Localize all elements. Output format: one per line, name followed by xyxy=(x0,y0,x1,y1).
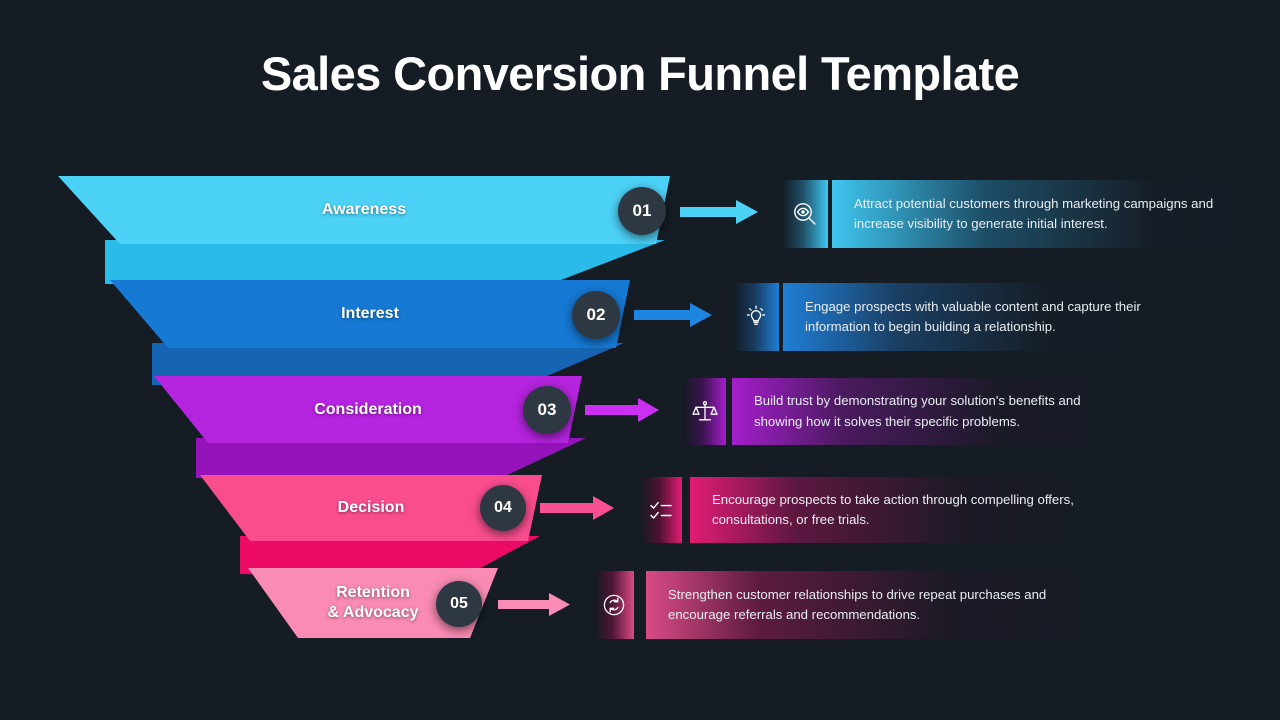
funnel-arrow-3 xyxy=(585,398,659,422)
funnel-stage-number-badge[interactable]: 03 xyxy=(523,386,571,434)
funnel-slice-shape xyxy=(110,280,630,348)
funnel-description-text: Encourage prospects to take action throu… xyxy=(690,490,1098,530)
funnel-icon-tile-3 xyxy=(684,378,726,445)
page-title: Sales Conversion Funnel Template xyxy=(0,46,1280,101)
lightbulb-icon xyxy=(743,304,769,330)
funnel-slice-consideration[interactable]: Consideration xyxy=(154,376,582,443)
funnel-stage-number-badge[interactable]: 04 xyxy=(480,485,526,531)
funnel-stage-number-badge[interactable]: 05 xyxy=(436,581,482,627)
funnel-stage-number: 02 xyxy=(587,305,606,325)
funnel-arrow-1 xyxy=(680,200,758,224)
funnel-description-text: Build trust by demonstrating your soluti… xyxy=(732,391,1130,431)
funnel-slice-interest[interactable]: Interest xyxy=(110,280,630,348)
funnel-description-panel-5: Strengthen customer relationships to dri… xyxy=(646,571,1112,639)
funnel-description-text: Strengthen customer relationships to dri… xyxy=(646,585,1112,625)
funnel-description-panel-4: Encourage prospects to take action throu… xyxy=(690,477,1098,543)
funnel-arrow-5 xyxy=(498,593,570,616)
funnel-icon-tile-2 xyxy=(733,283,779,351)
funnel-icon-tile-5 xyxy=(594,571,634,639)
eye-magnifier-icon xyxy=(792,201,818,227)
checklist-icon xyxy=(648,497,674,523)
funnel-icon-tile-1 xyxy=(782,180,828,248)
funnel-slice-shape xyxy=(58,176,670,244)
funnel-arrow-2 xyxy=(634,303,712,327)
funnel-description-panel-3: Build trust by demonstrating your soluti… xyxy=(732,378,1130,445)
funnel-slice-shape xyxy=(154,376,582,443)
funnel-stage-number: 01 xyxy=(633,201,652,221)
funnel-stage-number: 03 xyxy=(538,400,557,420)
funnel-icon-tile-4 xyxy=(640,477,682,543)
funnel-stage-number-badge[interactable]: 02 xyxy=(572,291,620,339)
funnel-arrow-4 xyxy=(540,496,614,520)
funnel-slice-awareness[interactable]: Awareness xyxy=(58,176,670,244)
funnel-stage-number: 04 xyxy=(494,499,512,517)
funnel-description-text: Attract potential customers through mark… xyxy=(832,194,1280,234)
funnel-description-panel-2: Engage prospects with valuable content a… xyxy=(783,283,1161,351)
balance-scale-icon xyxy=(692,399,718,425)
slide-canvas: Sales Conversion Funnel Template Awarene… xyxy=(0,0,1280,720)
funnel-description-text: Engage prospects with valuable content a… xyxy=(783,297,1161,337)
funnel-stage-number-badge[interactable]: 01 xyxy=(618,187,666,235)
refresh-loop-icon xyxy=(601,592,627,618)
funnel-stage-number: 05 xyxy=(450,595,468,613)
funnel-description-panel-1: Attract potential customers through mark… xyxy=(832,180,1280,248)
